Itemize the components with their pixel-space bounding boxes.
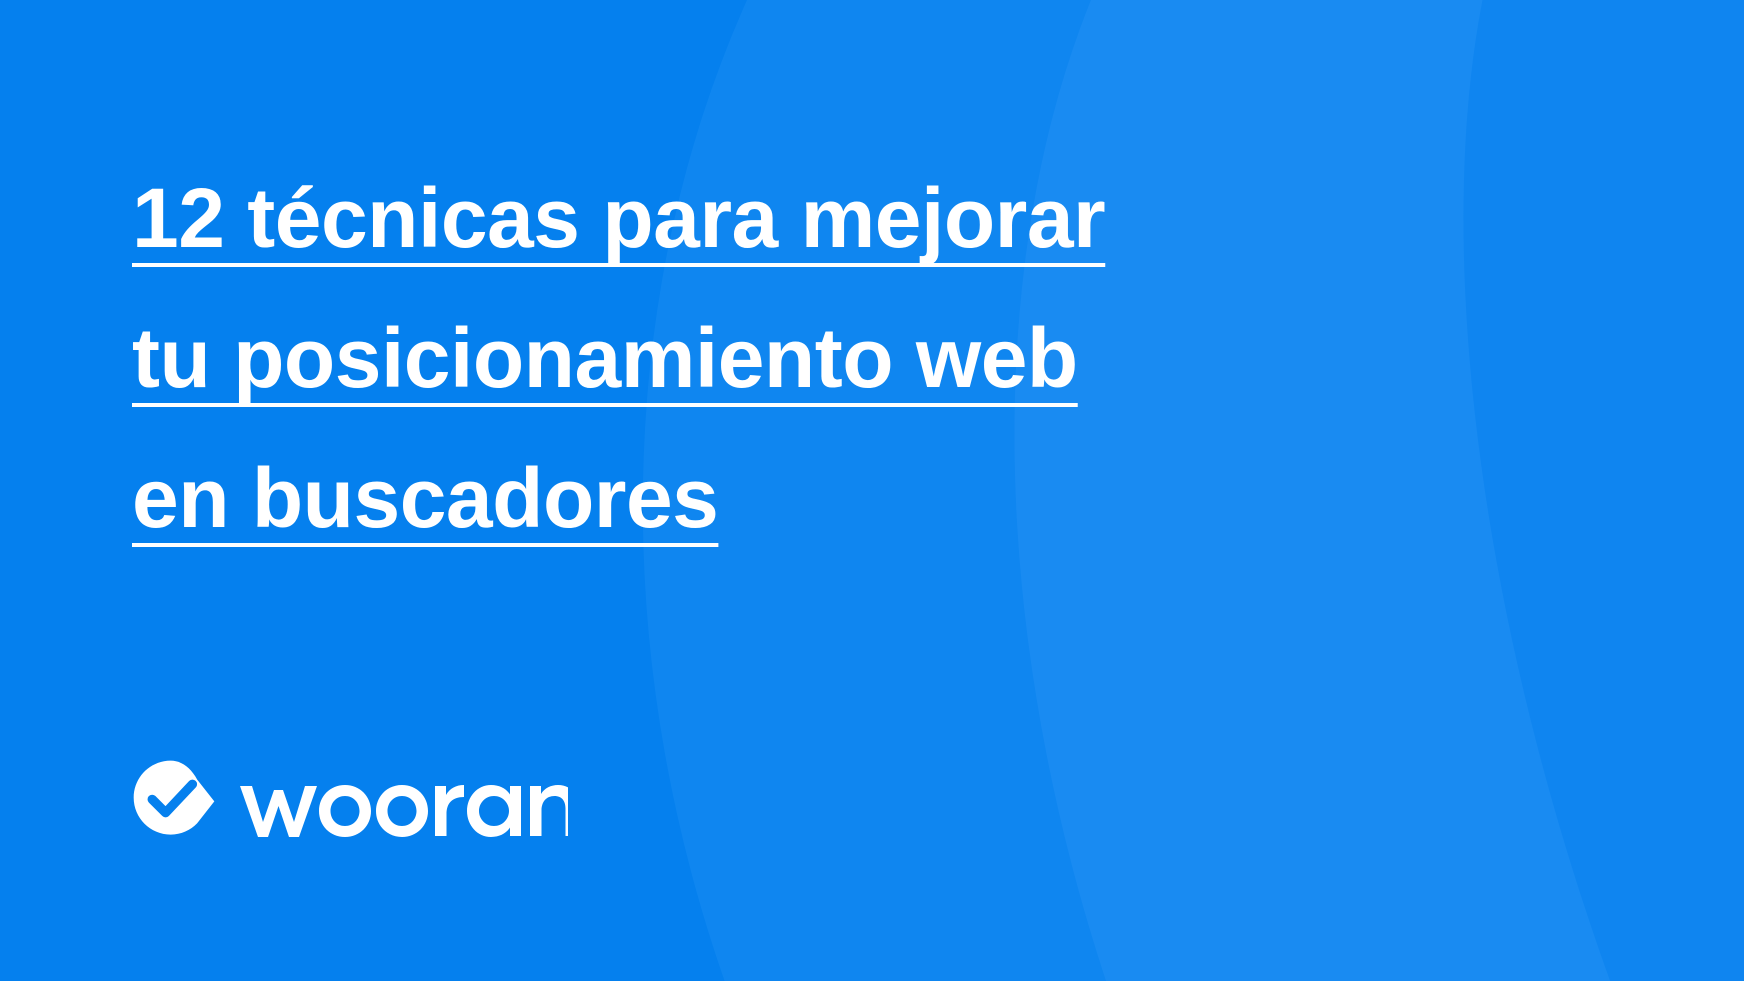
title-line-1-text: 12 técnicas para mejorar — [132, 171, 1105, 265]
cover-content: 12 técnicas para mejorar tu posicionamie… — [132, 0, 1552, 981]
page-title: 12 técnicas para mejorar tu posicionamie… — [132, 148, 1432, 568]
title-line-2-text: tu posicionamiento web — [132, 311, 1078, 405]
title-line-3-text: en buscadores — [132, 451, 718, 545]
title-line-1: 12 técnicas para mejorar — [132, 148, 1432, 288]
woorank-wordmark — [238, 764, 568, 838]
title-line-2: tu posicionamiento web — [132, 288, 1432, 428]
woorank-check-teardrop-icon — [132, 759, 216, 843]
title-line-3: en buscadores — [132, 428, 1432, 568]
brand-logo: woorank — [132, 758, 568, 844]
cover-canvas: 12 técnicas para mejorar tu posicionamie… — [0, 0, 1744, 981]
